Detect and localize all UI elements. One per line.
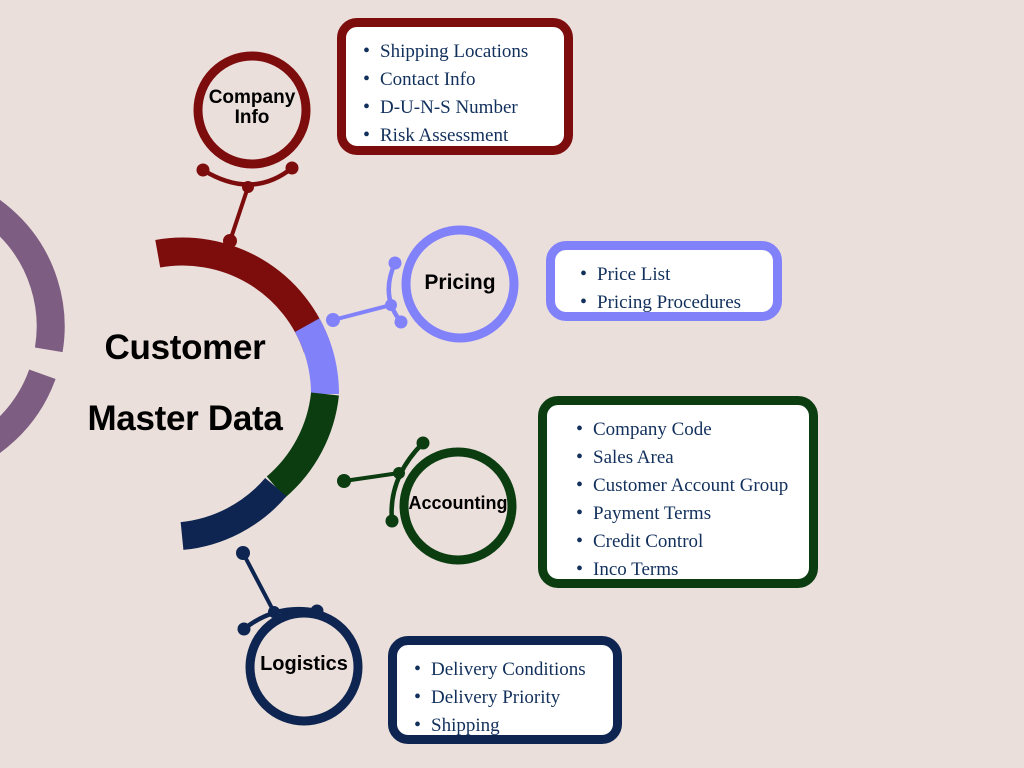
connector-pricing bbox=[326, 257, 408, 329]
list-item: Delivery Conditions bbox=[411, 656, 601, 684]
list-item: Inco Terms bbox=[573, 556, 797, 584]
panel-list-pricing: Price List Pricing Procedures bbox=[577, 261, 761, 317]
list-item: Shipping bbox=[411, 712, 601, 740]
list-item: Sales Area bbox=[573, 444, 797, 472]
panel-list-logistics: Delivery Conditions Delivery Priority Sh… bbox=[411, 656, 601, 740]
list-item: Company Code bbox=[573, 416, 797, 444]
list-item: Payment Terms bbox=[573, 500, 797, 528]
node-label-company-info: Company Info bbox=[192, 88, 312, 128]
list-item: Price List bbox=[577, 261, 761, 289]
panel-logistics[interactable]: Delivery Conditions Delivery Priority Sh… bbox=[388, 636, 622, 744]
donut-slice-other bbox=[0, 184, 51, 468]
diagram-canvas: Customer Master Data Company Info Pricin… bbox=[0, 0, 1024, 768]
connector-company-info bbox=[197, 162, 299, 249]
list-item: Delivery Priority bbox=[411, 684, 601, 712]
node-label-accounting: Accounting bbox=[394, 494, 522, 513]
panel-pricing[interactable]: Price List Pricing Procedures bbox=[546, 241, 782, 321]
hub-center-label: Customer Master Data bbox=[55, 330, 315, 436]
hub-label-line2: Master Data bbox=[55, 401, 315, 436]
donut-slice-logistics bbox=[182, 487, 276, 536]
panel-list-company-info: Shipping Locations Contact Info D-U-N-S … bbox=[360, 38, 552, 150]
list-item: Customer Account Group bbox=[573, 472, 797, 500]
hub-label-line1: Customer bbox=[105, 328, 266, 367]
list-item: Pricing Procedures bbox=[577, 289, 761, 317]
node-label-pricing: Pricing bbox=[400, 272, 520, 294]
node-label-logistics: Logistics bbox=[244, 654, 364, 675]
list-item: Credit Control bbox=[573, 528, 797, 556]
list-item: Risk Assessment bbox=[360, 122, 552, 150]
connector-accounting bbox=[337, 437, 430, 528]
panel-company-info[interactable]: Shipping Locations Contact Info D-U-N-S … bbox=[337, 18, 573, 155]
list-item: D-U-N-S Number bbox=[360, 94, 552, 122]
list-item: Shipping Locations bbox=[360, 38, 552, 66]
list-item: Contact Info bbox=[360, 66, 552, 94]
panel-list-accounting: Company Code Sales Area Customer Account… bbox=[573, 416, 797, 584]
panel-accounting[interactable]: Company Code Sales Area Customer Account… bbox=[538, 396, 818, 588]
